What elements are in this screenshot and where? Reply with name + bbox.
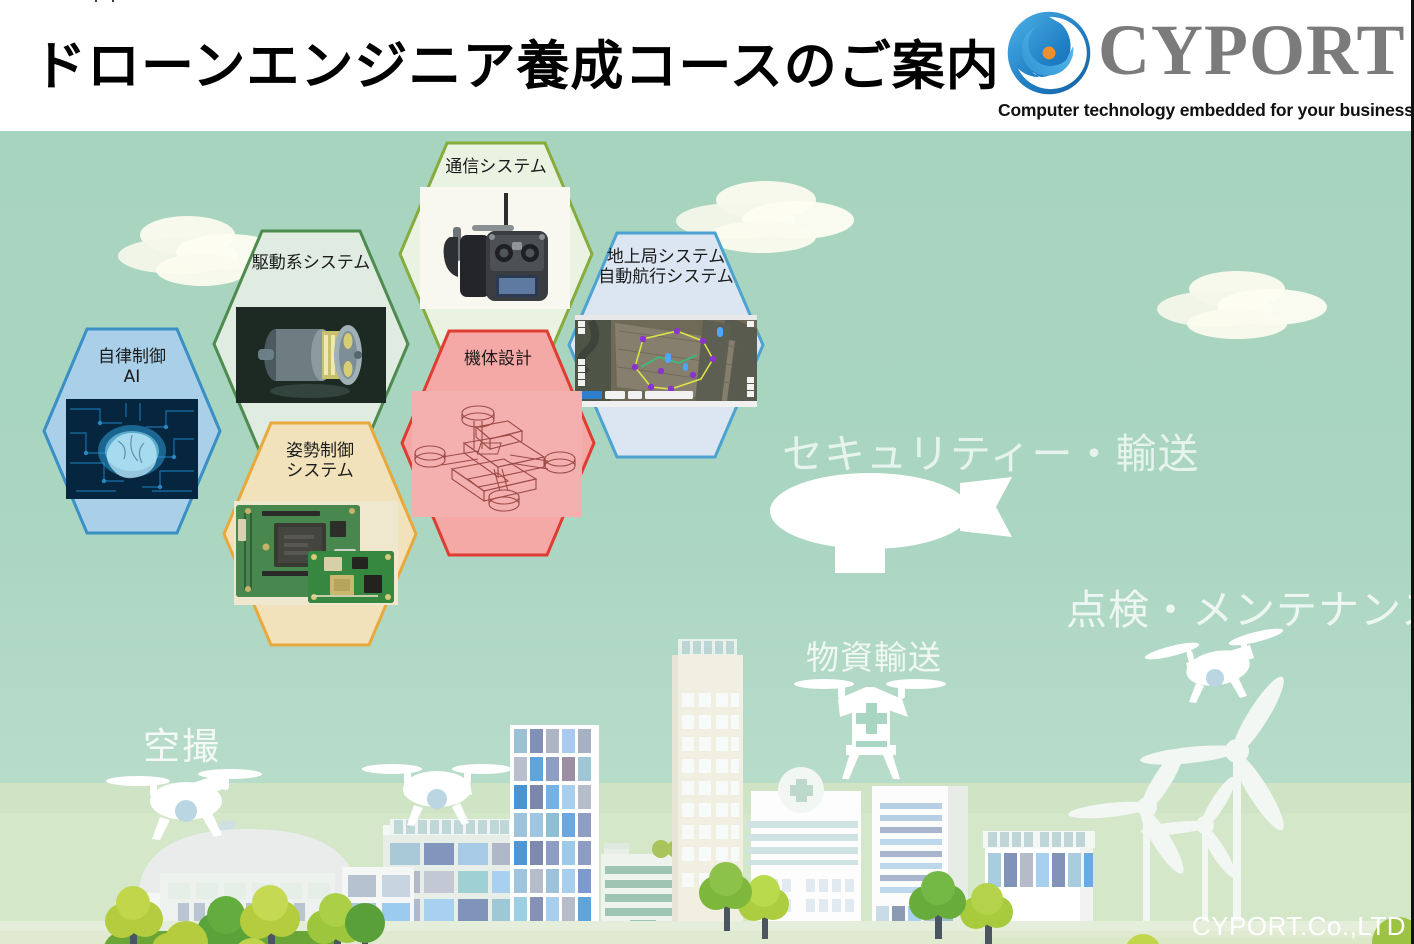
footer-company: CYPORT.Co.,LTD <box>1192 911 1406 942</box>
hex-thumb-map <box>575 315 757 407</box>
slide-root: ドローンエンジニア養成コースのご案内 CYPORT <box>0 0 1414 944</box>
cyport-logo: CYPORT Computer technology embedded for … <box>998 6 1410 124</box>
hex-autonomous-ai[interactable]: 自律制御 AI <box>42 327 222 535</box>
hexagon-cluster: 自律制御 AI <box>0 131 780 651</box>
hex-thumb-motor <box>236 307 386 403</box>
hex-label: 地上局システム 自動航行システム <box>567 247 765 287</box>
hex-label: 自律制御 AI <box>42 347 222 387</box>
scene-label-smart-agri: スマート農業 <box>556 936 789 944</box>
cyport-swirl-icon <box>1006 10 1092 96</box>
airship-silhouette <box>770 473 1012 573</box>
building-tile-tower <box>510 725 599 930</box>
scene-label-aerial: 空撮 <box>143 716 221 770</box>
scene-label-security: セキュリティー・輸送 <box>782 420 1200 480</box>
hex-thumb-pcb <box>234 501 398 605</box>
scene-label-goods: 物資輸送 <box>806 631 942 679</box>
page-title: ドローンエンジニア養成コースのご案内 <box>33 24 1000 100</box>
drone-inspection <box>1144 625 1285 703</box>
hex-airframe-design[interactable]: 機体設計 <box>400 329 596 557</box>
hex-label: 姿勢制御 システム <box>222 441 418 481</box>
slide-header: ドローンエンジニア養成コースのご案内 CYPORT <box>0 0 1414 131</box>
hex-label: 通信システム <box>398 157 594 177</box>
hex-thumb-cad <box>412 391 582 517</box>
cyport-tagline: Computer technology embedded for your bu… <box>998 100 1410 121</box>
illustration-scene: セキュリティー・輸送 点検・メンテナンス 物資輸送 空撮 スマート農業 自律制御… <box>0 131 1414 944</box>
hex-thumb-transmitter <box>420 187 570 309</box>
hex-thumb-brain <box>66 399 198 499</box>
cyport-wordmark: CYPORT <box>1098 10 1405 90</box>
scene-label-inspection: 点検・メンテナンス <box>1066 576 1414 636</box>
crop-marks <box>95 0 225 4</box>
hex-label: 機体設計 <box>400 349 596 369</box>
hex-label: 駆動系システム <box>212 253 410 273</box>
hex-ground-station[interactable]: 地上局システム 自動航行システム <box>567 231 765 459</box>
hex-attitude-control[interactable]: 姿勢制御 システム <box>222 421 418 647</box>
